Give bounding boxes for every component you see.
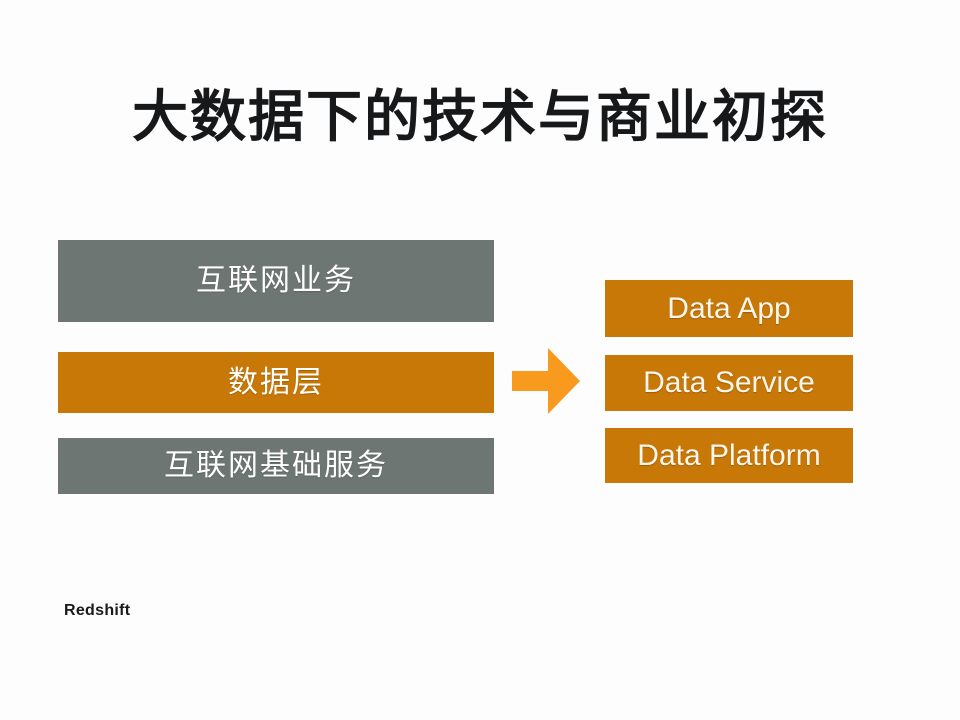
- layer-box-label: 数据层: [228, 368, 324, 398]
- data-stack-column: Data App Data Service Data Platform: [605, 280, 853, 483]
- right-arrow-icon: [510, 345, 582, 417]
- layer-box-data-layer[interactable]: 数据层: [58, 352, 494, 413]
- page-title: 大数据下的技术与商业初探: [0, 82, 960, 154]
- data-box-data-platform[interactable]: Data Platform: [605, 428, 853, 483]
- layer-box-label: 互联网业务: [196, 266, 356, 296]
- data-box-data-app[interactable]: Data App: [605, 280, 853, 337]
- layer-box-label: 互联网基础服务: [164, 451, 388, 481]
- footnote-redshift: Redshift: [64, 602, 130, 620]
- layer-box-internet-business[interactable]: 互联网业务: [58, 240, 494, 322]
- data-box-data-service[interactable]: Data Service: [605, 355, 853, 411]
- platform-layers-column: 互联网业务 数据层 互联网基础服务: [58, 240, 494, 494]
- slide-canvas: 大数据下的技术与商业初探 互联网业务 数据层 互联网基础服务 Data App …: [0, 0, 960, 720]
- data-box-label: Data App: [667, 294, 790, 324]
- layer-box-internet-infrastructure-service[interactable]: 互联网基础服务: [58, 438, 494, 494]
- data-box-label: Data Platform: [637, 441, 820, 471]
- data-box-label: Data Service: [643, 368, 815, 398]
